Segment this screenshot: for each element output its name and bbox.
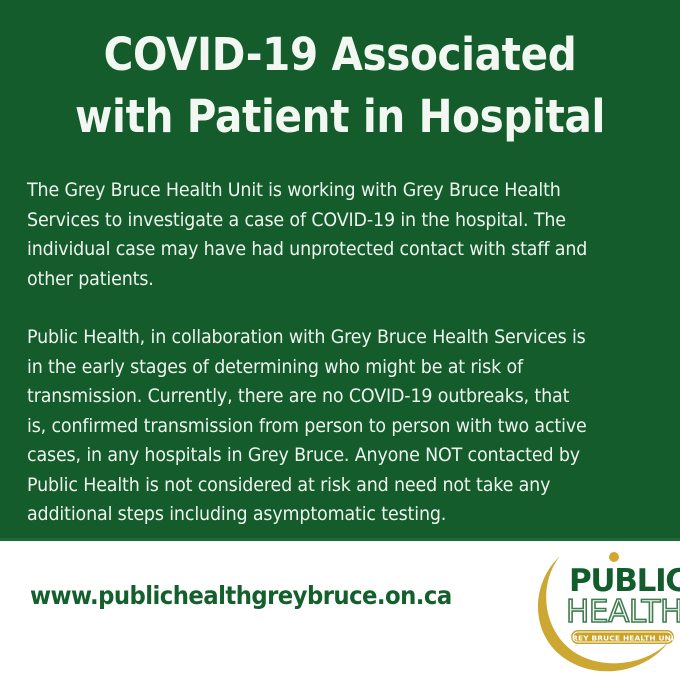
body-paragraph-2: Public Health, in collaboration with Gre… (27, 323, 592, 530)
website-url[interactable]: www.publichealthgreybruce.on.ca (30, 581, 452, 610)
body-paragraph-1: The Grey Bruce Health Unit is working wi… (27, 176, 592, 294)
gold-dot-icon (609, 552, 619, 562)
announcement-body: The Grey Bruce Health Unit is working wi… (27, 176, 592, 530)
logo-word-health: HEALTH (566, 594, 680, 630)
public-health-logo: PUBLIC HEALTH GREY BRUCE HEALTH UNIT (524, 548, 680, 674)
logo-tagline: GREY BRUCE HEALTH UNIT (566, 634, 679, 643)
page-title: COVID-19 Associated with Patient in Hosp… (52, 24, 628, 148)
covid-announcement-poster: COVID-19 Associated with Patient in Hosp… (0, 0, 680, 680)
